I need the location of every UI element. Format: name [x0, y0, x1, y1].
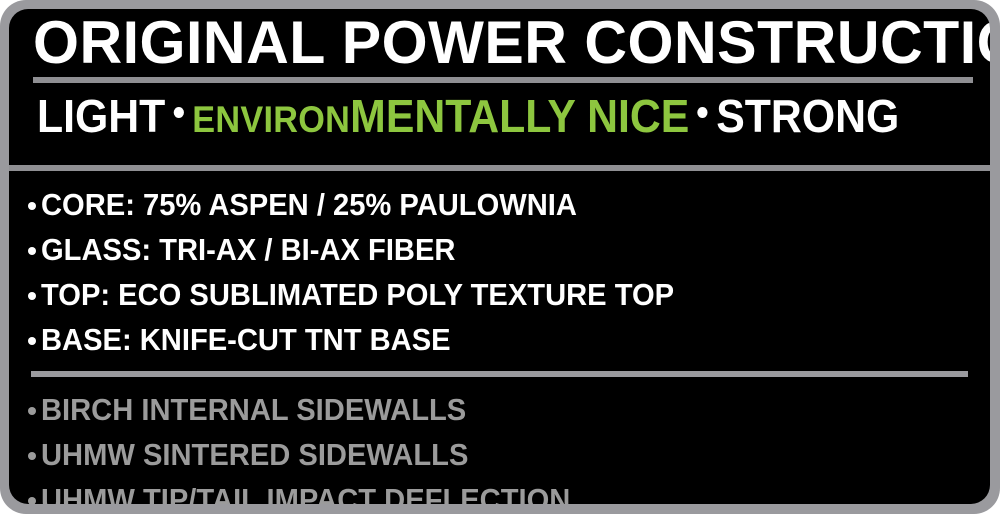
- subtitle-part-light: LIGHT: [37, 90, 165, 142]
- subtitle-part-strong: STRONG: [716, 90, 899, 142]
- list-item: GLASS: TRI-AX / BI-AX FIBER: [9, 227, 990, 272]
- spec-panel: ORIGINAL POWER CONSTRUCTION LIGHTENVIRON…: [0, 0, 1000, 514]
- bullet-dot-icon: [698, 107, 708, 118]
- primary-spec-list: CORE: 75% ASPEN / 25% PAULOWNIA GLASS: T…: [9, 171, 990, 362]
- header-block: ORIGINAL POWER CONSTRUCTION: [9, 9, 990, 85]
- spec-text: BIRCH INTERNAL SIDEWALLS: [41, 387, 466, 432]
- spec-text: UHMW TIP/TAIL IMPACT DEFLECTION: [41, 477, 570, 504]
- subtitle-block: LIGHTENVIRONMENTALLY NICESTRONG: [9, 85, 990, 165]
- page-title: ORIGINAL POWER CONSTRUCTION: [33, 10, 990, 76]
- spec-text: GLASS: TRI-AX / BI-AX FIBER: [41, 227, 455, 272]
- list-item: TOP: ECO SUBLIMATED POLY TEXTURE TOP: [9, 272, 990, 317]
- title-divider: [33, 77, 973, 83]
- spec-text: UHMW SINTERED SIDEWALLS: [41, 432, 468, 477]
- list-item: UHMW SINTERED SIDEWALLS: [9, 432, 990, 477]
- subtitle-mentally-nice: MENTALLY NICE: [350, 90, 689, 142]
- subtitle-part-environmentally-nice: ENVIRONMENTALLY NICE: [192, 90, 689, 142]
- spec-text: TOP: ECO SUBLIMATED POLY TEXTURE TOP: [41, 272, 674, 317]
- list-item: BIRCH INTERNAL SIDEWALLS: [9, 387, 990, 432]
- bullet-dot-icon: [174, 107, 184, 118]
- list-item: BASE: KNIFE-CUT TNT BASE: [9, 317, 990, 362]
- spec-text: CORE: 75% ASPEN / 25% PAULOWNIA: [41, 182, 577, 227]
- list-item: CORE: 75% ASPEN / 25% PAULOWNIA: [9, 182, 990, 227]
- subtitle-environ-smallcaps: ENVIRON: [192, 99, 350, 140]
- list-item: UHMW TIP/TAIL IMPACT DEFLECTION: [9, 477, 990, 504]
- spec-text: BASE: KNIFE-CUT TNT BASE: [41, 317, 451, 362]
- secondary-spec-list: BIRCH INTERNAL SIDEWALLS UHMW SINTERED S…: [9, 377, 990, 504]
- subtitle: LIGHTENVIRONMENTALLY NICESTRONG: [37, 88, 899, 148]
- panel-inner: ORIGINAL POWER CONSTRUCTION LIGHTENVIRON…: [9, 9, 990, 504]
